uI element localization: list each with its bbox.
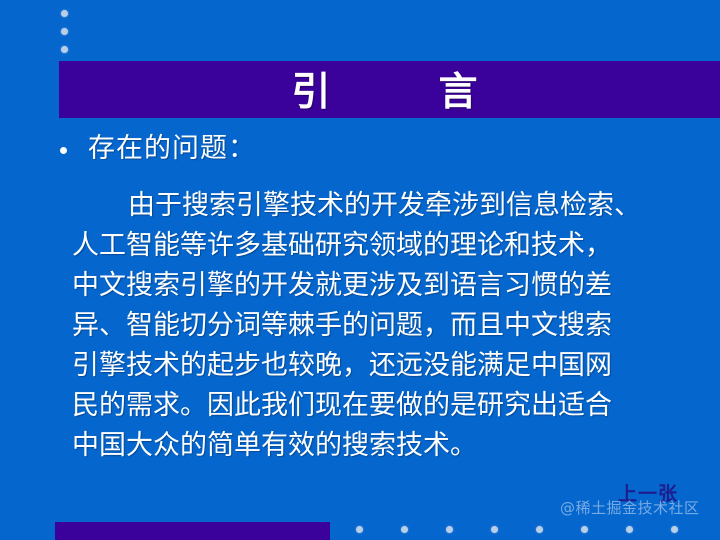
slide-title-band: 引 言 [59, 61, 720, 118]
decorative-dot [401, 526, 408, 533]
body-paragraph: 由于搜索引擎技术的开发牵涉到信息检索、 人工智能等许多基础研究领域的理论和技术，… [0, 186, 720, 466]
bullet-dot-icon [60, 147, 67, 154]
decorative-dot [536, 526, 543, 533]
bullet-item-label: 存在的问题： [88, 133, 256, 164]
decorative-dot [671, 526, 678, 533]
top-left-dot-column [61, 8, 73, 60]
decorative-dot [446, 526, 453, 533]
paragraph-line: 人工智能等许多基础研究领域的理论和技术， [72, 226, 702, 266]
slide-body: 存在的问题： 由于搜索引擎技术的开发牵涉到信息检索、 人工智能等许多基础研究领域… [0, 130, 720, 466]
paragraph-line: 由于搜索引擎技术的开发牵涉到信息检索、 [72, 186, 702, 226]
decorative-dot [581, 526, 588, 533]
paragraph-line: 引擎技术的起步也较晚，还远没能满足中国网 [72, 346, 702, 386]
paragraph-line: 民的需求。因此我们现在要做的是研究出适合 [72, 386, 702, 426]
decorative-dot [61, 10, 68, 17]
decorative-dot [61, 28, 68, 35]
paragraph-line: 异、智能切分词等棘手的问题，而且中文搜索 [72, 306, 702, 346]
decorative-dot [356, 526, 363, 533]
decorative-dot [626, 526, 633, 533]
paragraph-line: 中文搜索引擎的开发就更涉及到语言习惯的差 [72, 266, 702, 306]
previous-slide-link[interactable]: 上一张 [618, 479, 678, 506]
decorative-dot [61, 46, 68, 53]
bottom-accent-bar [55, 522, 330, 540]
decorative-dot [491, 526, 498, 533]
presentation-slide: 引 言 存在的问题： 由于搜索引擎技术的开发牵涉到信息检索、 人工智能等许多基础… [0, 0, 720, 540]
bottom-dot-row [356, 526, 716, 536]
paragraph-line: 中国大众的简单有效的搜索技术。 [72, 426, 702, 466]
bullet-item: 存在的问题： [0, 130, 720, 174]
slide-title: 引 言 [59, 60, 720, 116]
